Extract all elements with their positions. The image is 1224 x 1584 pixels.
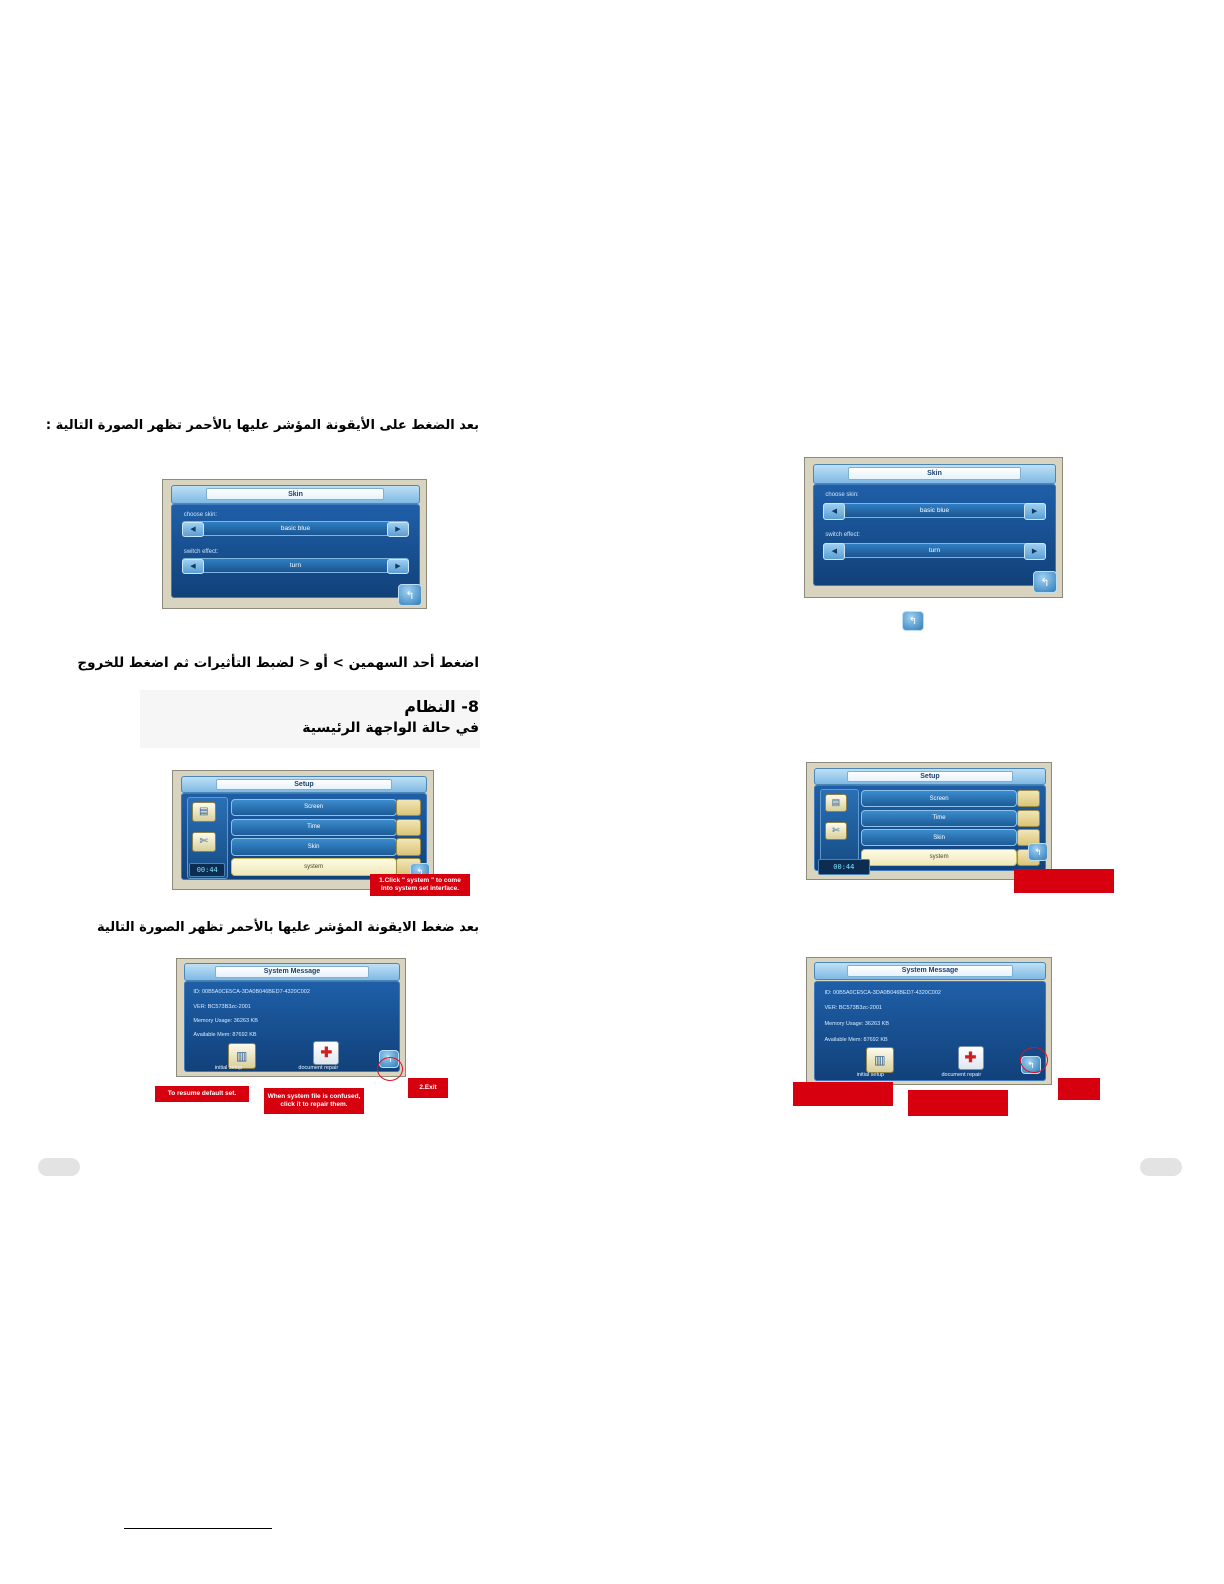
setup-row-time-label: Time: [933, 815, 946, 821]
page-marker-left: [38, 1158, 80, 1176]
system-memory-usage-line: Memory Usage: 36263 KB: [824, 1021, 889, 1027]
callout-blank-3: [908, 1090, 1008, 1116]
setup-row-skin[interactable]: Skin: [231, 838, 397, 855]
system-memory-usage-line: Memory Usage: 36263 KB: [193, 1018, 258, 1024]
callout-resume-default: To resume default set.: [155, 1086, 249, 1102]
skin-dialog-title: Skin: [288, 491, 303, 498]
initial-setup-caption: initial setup: [215, 1065, 243, 1071]
switch-effect-label: switch effect:: [825, 532, 860, 538]
skin-dialog-large-back-button[interactable]: ↰: [1033, 571, 1057, 593]
screen-icon: [396, 799, 421, 816]
skin-dialog-large-title: Skin: [927, 470, 942, 477]
choose-skin-label: choose skin:: [184, 512, 217, 518]
switch-effect-value: turn: [290, 562, 301, 569]
setup-row-skin-label: Skin: [933, 835, 945, 841]
choose-skin-value: basic blue: [920, 507, 949, 514]
switch-effect-row-large: switch effect: turn ◀ ▶: [823, 533, 1045, 559]
setup-row-system[interactable]: system: [861, 849, 1017, 866]
switch-effect-row: switch effect: turn ◀ ▶: [182, 550, 409, 574]
callout-repair: When system file is confused, click it t…: [264, 1088, 364, 1114]
setup-row-system[interactable]: system: [231, 858, 397, 875]
skin-dialog-large: Skin choose skin: basic blue ◀ ▶ switch …: [804, 457, 1063, 598]
setup-dialog-large-title: Setup: [920, 773, 939, 780]
setup-row-time[interactable]: Time: [231, 819, 397, 836]
setup-dialog-body: ▤ ✄ Screen Time Skin system: [181, 793, 427, 880]
callout-exit: 2.Exit: [408, 1078, 448, 1098]
choose-skin-value-bar[interactable]: basic blue: [823, 503, 1045, 519]
switch-effect-left-arrow-icon[interactable]: ◀: [823, 543, 845, 559]
choose-skin-row-large: choose skin: basic blue ◀ ▶: [823, 493, 1045, 519]
screen-icon: [1017, 790, 1040, 807]
system-message-titlebar: System Message: [184, 963, 400, 981]
switch-effect-value-bar[interactable]: turn: [823, 543, 1045, 559]
tools-icon: ✄: [192, 832, 216, 852]
setup-row-screen[interactable]: Screen: [231, 799, 397, 816]
setup-dialog-titlebar: Setup: [181, 776, 427, 793]
setup-row-screen[interactable]: Screen: [861, 790, 1017, 807]
callout-system-click: 1.Click " system " to come into system s…: [370, 874, 470, 896]
setup-dialog-title: Setup: [294, 781, 313, 788]
setup-dialog-large-titlebar: Setup: [814, 768, 1045, 785]
switch-effect-label: switch effect:: [184, 549, 219, 555]
callout-blank-4: [1058, 1078, 1100, 1100]
clock-display: 00:44: [818, 859, 870, 874]
system-id-line: ID: 00B5A0CE5CA-3DA0B046BED7-4320C002: [193, 989, 310, 995]
setup-row-skin-label: Skin: [308, 844, 320, 850]
choose-skin-value: basic blue: [281, 525, 310, 532]
document-repair-caption: document repair: [941, 1072, 981, 1078]
setup-list: Screen Time Skin system: [861, 789, 1040, 868]
time-icon: [396, 819, 421, 836]
setup-row-skin[interactable]: Skin: [861, 829, 1017, 846]
choose-skin-left-arrow-icon[interactable]: ◀: [823, 503, 845, 519]
system-message-large-body: ID: 00B5A0CE5CA-3DA0B046BED7-4320C002 VE…: [814, 981, 1045, 1081]
system-available-mem-line: Available Mem: 87692 KB: [824, 1037, 887, 1043]
setup-sidebar: ▤ ✄: [820, 789, 859, 870]
arabic-line-1: بعد الضغط على الأيقونة المؤشر عليها بالأ…: [46, 418, 479, 433]
setup-list: Screen Time Skin system: [231, 797, 422, 877]
switch-effect-right-arrow-icon[interactable]: ▶: [1024, 543, 1046, 559]
book-icon: ▤: [192, 802, 216, 822]
image-repair-icon[interactable]: ▥: [866, 1047, 894, 1073]
system-message-title: System Message: [264, 968, 320, 975]
time-icon: [1017, 810, 1040, 827]
clock-display: 00:44: [189, 863, 225, 877]
setup-dialog-large-back-button[interactable]: ↰: [1028, 843, 1048, 861]
arabic-line-4: في حالة الواجهة الرئيسية: [302, 720, 479, 736]
setup-dialog-large-body: ▤ ✄ Screen Time Skin system: [814, 785, 1045, 871]
setup-row-screen-label: Screen: [930, 796, 949, 802]
arabic-line-2: اضغط أحد السهمين > أو < لضبط التأثيرات ث…: [77, 655, 479, 671]
back-arrow-icon-standalone: ↰: [902, 611, 924, 631]
exit-button-highlight-circle-large: [1020, 1047, 1048, 1073]
document-page: بعد الضغط على الأيقونة المؤشر عليها بالأ…: [0, 0, 1224, 1584]
switch-effect-value: turn: [929, 547, 940, 554]
choose-skin-right-arrow-icon[interactable]: ▶: [1024, 503, 1046, 519]
tools-icon: ✄: [825, 822, 847, 840]
switch-effect-value-bar[interactable]: turn: [182, 558, 409, 572]
page-marker-right: [1140, 1158, 1182, 1176]
footer-rule: [124, 1528, 272, 1529]
system-ver-line: VER: BC573B3zc-2001: [193, 1004, 250, 1010]
choose-skin-right-arrow-icon[interactable]: ▶: [387, 522, 409, 537]
document-repair-caption: document repair: [298, 1065, 338, 1071]
system-message-dialog-large: System Message ID: 00B5A0CE5CA-3DA0B046B…: [806, 957, 1052, 1085]
choose-skin-value-bar[interactable]: basic blue: [182, 521, 409, 535]
skin-dialog-back-button[interactable]: ↰: [398, 584, 422, 606]
setup-row-system-label: system: [930, 854, 949, 860]
arabic-heading-system: 8- النظام: [404, 697, 479, 716]
setup-row-time[interactable]: Time: [861, 810, 1017, 827]
system-message-body: ID: 00B5A0CE5CA-3DA0B046BED7-4320C002 VE…: [184, 981, 400, 1072]
switch-effect-right-arrow-icon[interactable]: ▶: [387, 559, 409, 574]
setup-row-time-label: Time: [307, 824, 320, 830]
system-available-mem-line: Available Mem: 87692 KB: [193, 1032, 256, 1038]
skin-dialog-large-titlebar: Skin: [813, 464, 1057, 484]
skin-dialog-large-body: choose skin: basic blue ◀ ▶ switch effec…: [813, 484, 1057, 586]
skin-icon: [396, 838, 421, 855]
setup-dialog-large: Setup ▤ ✄ Screen Time Skin: [806, 762, 1052, 880]
callout-blank-1: [1014, 869, 1114, 893]
choose-skin-row: choose skin: basic blue ◀ ▶: [182, 513, 409, 537]
choose-skin-left-arrow-icon[interactable]: ◀: [182, 522, 204, 537]
system-message-dialog-small: System Message ID: 00B5A0CE5CA-3DA0B046B…: [176, 958, 406, 1077]
setup-dialog-small: Setup ▤ ✄ Screen Time Skin: [172, 770, 434, 890]
book-icon: ▤: [825, 794, 847, 812]
skin-dialog-titlebar: Skin: [171, 485, 420, 504]
callout-blank-2: [793, 1082, 893, 1106]
system-message-large-title: System Message: [902, 967, 958, 974]
setup-row-screen-label: Screen: [304, 804, 323, 810]
system-ver-line: VER: BC573B3zc-2001: [824, 1005, 881, 1011]
skin-dialog-small: Skin choose skin: basic blue ◀ ▶ switch …: [162, 479, 427, 609]
choose-skin-label: choose skin:: [825, 492, 858, 498]
initial-setup-caption: initial setup: [857, 1072, 885, 1078]
system-message-large-titlebar: System Message: [814, 962, 1045, 980]
skin-dialog-body: choose skin: basic blue ◀ ▶ switch effec…: [171, 504, 420, 598]
system-id-line: ID: 00B5A0CE5CA-3DA0B046BED7-4320C002: [824, 990, 941, 996]
plus-icon[interactable]: ✚: [958, 1046, 984, 1070]
switch-effect-left-arrow-icon[interactable]: ◀: [182, 559, 204, 574]
exit-button-highlight-circle: [377, 1057, 403, 1081]
plus-icon[interactable]: ✚: [313, 1041, 339, 1065]
setup-row-system-label: system: [304, 864, 323, 870]
arabic-line-5: بعد ضغط الايقونة المؤشر عليها بالأحمر تظ…: [97, 920, 479, 935]
